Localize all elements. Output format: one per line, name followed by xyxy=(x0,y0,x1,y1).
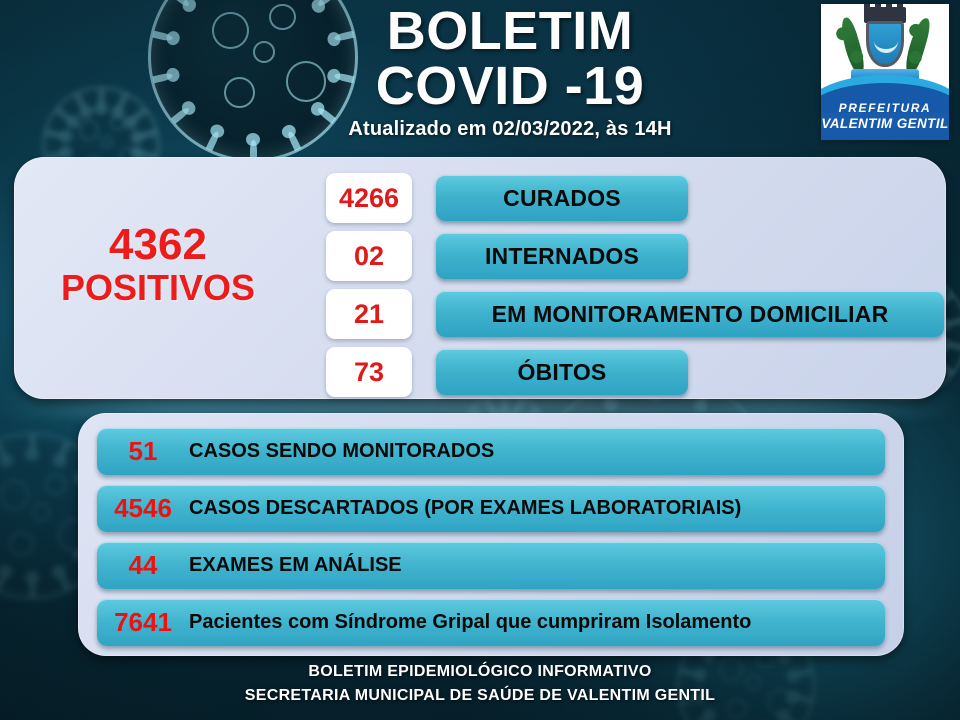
stat-label-box: ÓBITOS xyxy=(436,349,688,395)
logo-line-2: VALENTIM GENTIL xyxy=(821,116,949,131)
detail-row: 7641 Pacientes com Síndrome Gripal que c… xyxy=(97,599,885,646)
logo-text: PREFEITURA VALENTIM GENTIL xyxy=(821,101,949,131)
footer-line-2: SECRETARIA MUNICIPAL DE SAÚDE DE VALENTI… xyxy=(0,684,960,708)
stat-value-box: 02 xyxy=(326,231,412,281)
stat-value: 73 xyxy=(354,357,384,388)
footer: BOLETIM EPIDEMIOLÓGICO INFORMATIVO SECRE… xyxy=(0,660,960,708)
stat-value-box: 73 xyxy=(326,347,412,397)
detail-value: 7641 xyxy=(97,607,189,638)
footer-line-1: BOLETIM EPIDEMIOLÓGICO INFORMATIVO xyxy=(0,660,960,684)
laurel-left-icon xyxy=(837,16,867,76)
detail-label: Pacientes com Síndrome Gripal que cumpri… xyxy=(189,611,751,634)
stat-label: EM MONITORAMENTO DOMICILIAR xyxy=(492,301,889,328)
stat-value: 21 xyxy=(354,299,384,330)
stat-label-box: EM MONITORAMENTO DOMICILIAR xyxy=(436,291,944,337)
stat-value-box: 21 xyxy=(326,289,412,339)
positives-label: POSITIVOS xyxy=(40,269,276,307)
stat-label-box: CURADOS xyxy=(436,175,688,221)
detail-value: 44 xyxy=(97,550,189,581)
details-panel: 51 CASOS SENDO MONITORADOS 4546 CASOS DE… xyxy=(78,413,904,656)
detail-row: 44 EXAMES EM ANÁLISE xyxy=(97,542,885,589)
detail-label: CASOS DESCARTADOS (POR EXAMES LABORATORI… xyxy=(189,497,741,520)
page-title: BOLETIM COVID -19 Atualizado em 02/03/20… xyxy=(250,4,770,141)
detail-label: EXAMES EM ANÁLISE xyxy=(189,554,402,577)
stat-value-box: 4266 xyxy=(326,173,412,223)
stat-value: 4266 xyxy=(339,183,399,214)
last-updated-text: Atualizado em 02/03/2022, às 14H xyxy=(250,118,770,141)
title-line-1: BOLETIM xyxy=(250,4,770,59)
prefeitura-logo: PREFEITURA VALENTIM GENTIL xyxy=(821,4,949,140)
stat-label-box: INTERNADOS xyxy=(436,233,688,279)
detail-value: 51 xyxy=(97,436,189,467)
positives-number: 4362 xyxy=(40,221,276,269)
laurel-right-icon xyxy=(902,16,932,76)
stat-label: INTERNADOS xyxy=(485,243,639,270)
positives-block: 4362 POSITIVOS xyxy=(40,221,276,306)
header: BOLETIM COVID -19 Atualizado em 02/03/20… xyxy=(0,0,960,150)
detail-value: 4546 xyxy=(97,493,189,524)
detail-row: 4546 CASOS DESCARTADOS (POR EXAMES LABOR… xyxy=(97,485,885,532)
detail-label: CASOS SENDO MONITORADOS xyxy=(189,440,494,463)
stat-label: CURADOS xyxy=(503,185,621,212)
stat-label: ÓBITOS xyxy=(518,359,607,386)
shield-icon xyxy=(866,21,904,67)
detail-row: 51 CASOS SENDO MONITORADOS xyxy=(97,428,885,475)
logo-line-1: PREFEITURA xyxy=(821,101,949,115)
summary-panel: 4362 POSITIVOS 4266 CURADOS 02 INTERNADO… xyxy=(14,157,946,399)
stat-value: 02 xyxy=(354,241,384,272)
title-line-2: COVID -19 xyxy=(250,59,770,114)
